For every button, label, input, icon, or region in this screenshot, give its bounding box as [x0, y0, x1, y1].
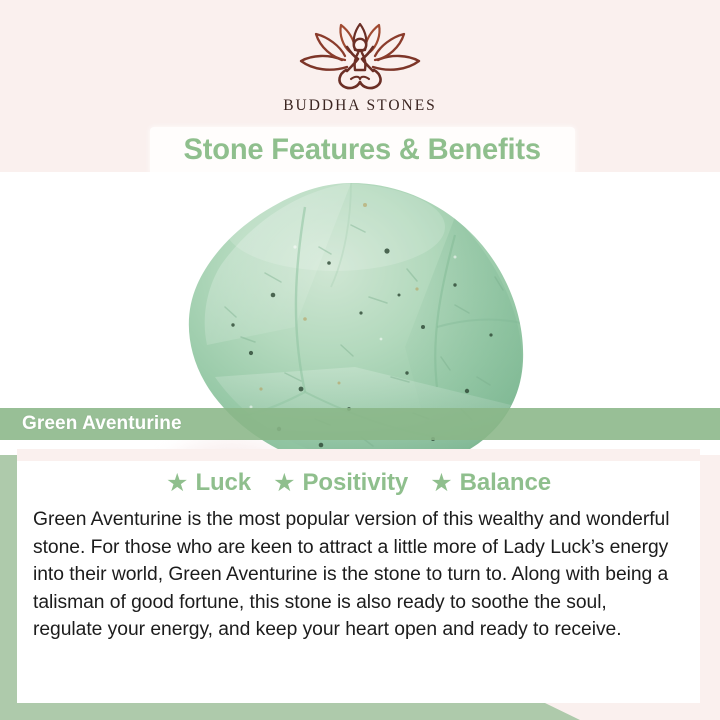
- divider-strip: [17, 449, 700, 461]
- keyword-item: ★ Luck: [166, 469, 251, 497]
- keyword-label: Positivity: [302, 469, 408, 497]
- product-label-band: Green Aventurine: [0, 408, 720, 440]
- star-icon: ★: [166, 471, 188, 496]
- keyword-item: ★ Positivity: [273, 469, 408, 497]
- frame-bar-bottom: [0, 703, 580, 720]
- star-icon: ★: [430, 471, 452, 496]
- infographic-card: BUDDHA STONES Stone Features & Benefits: [0, 0, 720, 720]
- title-band: Stone Features & Benefits: [150, 127, 575, 173]
- brand-logo: BUDDHA STONES: [265, 22, 455, 115]
- lotus-meditation-icon: [285, 22, 435, 94]
- header: BUDDHA STONES Stone Features & Benefits: [0, 0, 720, 182]
- description-text: Green Aventurine is the most popular ver…: [33, 506, 678, 644]
- star-icon: ★: [273, 471, 295, 496]
- keyword-item: ★ Balance: [430, 469, 551, 497]
- keyword-label: Balance: [460, 469, 551, 497]
- page-title: Stone Features & Benefits: [184, 133, 541, 167]
- product-label: Green Aventurine: [22, 413, 182, 435]
- keyword-label: Luck: [195, 469, 251, 497]
- keyword-list: ★ Luck ★ Positivity ★ Balance: [17, 461, 700, 497]
- content-panel: ★ Luck ★ Positivity ★ Balance Green Aven…: [17, 461, 700, 703]
- brand-name: BUDDHA STONES: [265, 97, 455, 115]
